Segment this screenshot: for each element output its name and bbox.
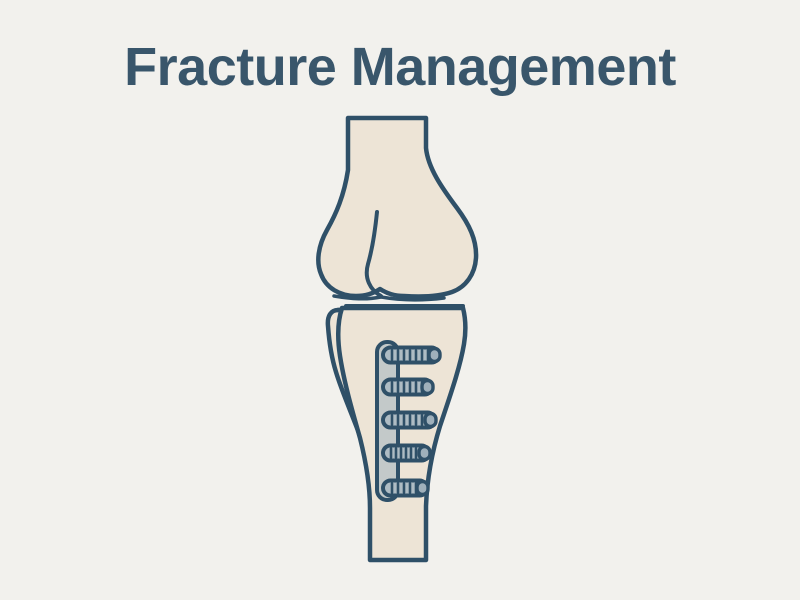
screw-threads bbox=[392, 351, 428, 360]
femur-group bbox=[318, 118, 476, 300]
femur-shape bbox=[318, 118, 476, 297]
bone-screw-5[interactable] bbox=[383, 481, 428, 496]
illustration-canvas: Fracture Management bbox=[0, 0, 800, 600]
screw-head bbox=[429, 349, 440, 362]
bone-screw-1[interactable] bbox=[383, 348, 440, 363]
bone-screw-2[interactable] bbox=[383, 380, 433, 395]
screw-head bbox=[425, 414, 436, 427]
screw-threads bbox=[391, 449, 421, 458]
screw-head bbox=[417, 482, 428, 495]
screw-head bbox=[422, 381, 433, 394]
bone-screw-3[interactable] bbox=[383, 413, 436, 428]
knee-orif-fixation-diagram bbox=[0, 0, 800, 600]
tibia-group bbox=[338, 306, 465, 560]
screw-head bbox=[419, 447, 430, 460]
bone-screw-4[interactable] bbox=[383, 446, 430, 461]
